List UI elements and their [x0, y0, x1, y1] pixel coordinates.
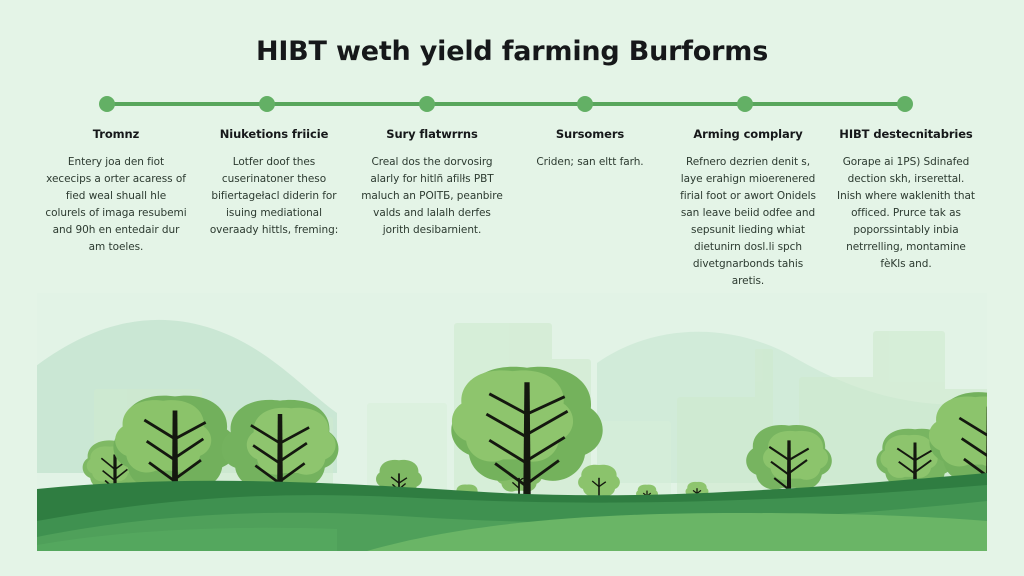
column-heading: Tromnz [45, 128, 187, 142]
column-body: Gorape ai 1РЅ) Sdinafed dection skh, irs… [835, 154, 977, 273]
timeline-dot-4[interactable] [577, 96, 593, 112]
timeline-column-6: HIBT destecnitabries Gorape ai 1РЅ) Sdin… [827, 128, 985, 298]
column-heading: Arming complary [677, 128, 819, 142]
timeline-column-1: Tromnz Entery joa den fiot xececips a or… [37, 128, 195, 298]
column-heading: HIBT destecnitabries [835, 128, 977, 142]
timeline-dot-2[interactable] [259, 96, 275, 112]
column-heading: Niuketions friicie [203, 128, 345, 142]
timeline-column-4: Sursomers Criden; san eltt farh. [511, 128, 669, 298]
column-heading: Sury flatwrrns [361, 128, 503, 142]
timeline-track [107, 102, 905, 106]
column-body: Refnero dezrien denit s, laye erahign mi… [677, 154, 819, 290]
column-body: Entery joa den fiot xececips a orter aca… [45, 154, 187, 256]
timeline-dot-5[interactable] [737, 96, 753, 112]
column-body: Creal dos the dorvosirg alarly for hitlñ… [361, 154, 503, 239]
timeline-dot-3[interactable] [419, 96, 435, 112]
timeline-column-5: Arming complary Refnero dezrien denit s,… [669, 128, 827, 298]
forest-park-illustration [37, 293, 987, 551]
page-title: HIBT weth yield farming Burforms [0, 36, 1024, 67]
timeline-columns: Tromnz Entery joa den fiot xececips a or… [37, 128, 987, 298]
timeline-dot-6[interactable] [897, 96, 913, 112]
column-body: Lotfer doof thes cuserinatoner theso bif… [203, 154, 345, 239]
timeline-column-3: Sury flatwrrns Creal dos the dorvosirg a… [353, 128, 511, 298]
column-body: Criden; san eltt farh. [519, 154, 661, 171]
column-heading: Sursomers [519, 128, 661, 142]
infographic-page: HIBT weth yield farming Burforms Tromnz … [0, 0, 1024, 576]
timeline-dot-1[interactable] [99, 96, 115, 112]
timeline-column-2: Niuketions friicie Lotfer doof thes cuse… [195, 128, 353, 298]
